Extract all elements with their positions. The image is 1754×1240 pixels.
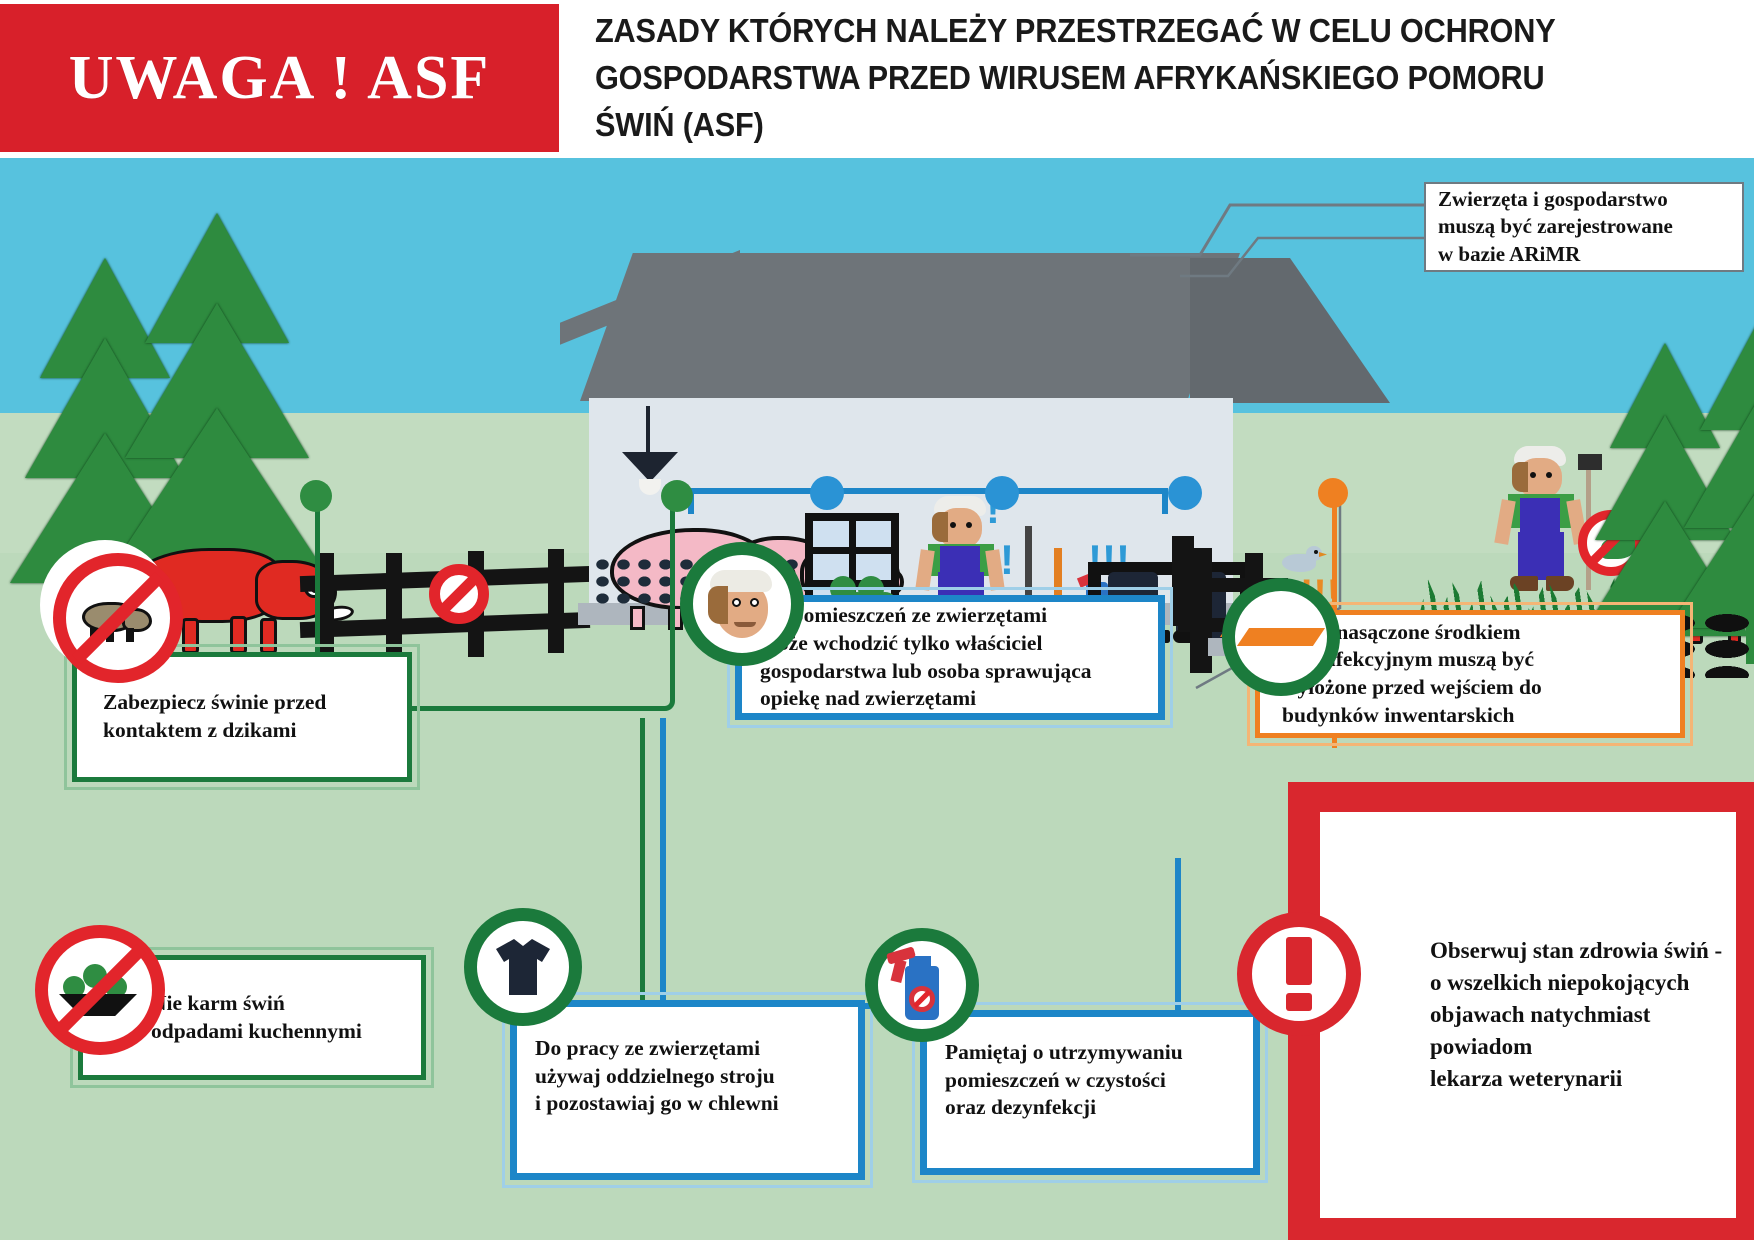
callout-access-line-1: Do pomieszczeń ze zwierzętami	[760, 602, 1092, 630]
callout-health-monitoring[interactable]: Obserwuj stan zdrowia świń - o wszelkich…	[1288, 782, 1754, 1240]
connector-node-blue-a	[810, 476, 844, 510]
callout-clothing-line-1: Do pracy ze zwierzętami	[535, 1035, 779, 1063]
title-line-3: ŚWIŃ (ASF)	[595, 102, 1665, 149]
poster-header: UWAGA ! ASF ZASADY KTÓRYCH NALEŻY PRZEST…	[0, 0, 1754, 158]
callout-health-line-4: lekarza weterynarii	[1430, 1063, 1736, 1095]
no-boar-icon[interactable]	[40, 540, 170, 670]
boar-glyph	[78, 594, 158, 642]
callout-clothing-line-3: i pozostawiaj go w chlewni	[535, 1090, 779, 1118]
callout-cleanliness[interactable]: Pamiętaj o utrzymywaniu pomieszczeń w cz…	[920, 1010, 1260, 1175]
title-line-1: ZASADY KTÓRYCH NALEŻY PRZESTRZEGAĆ W CEL…	[595, 8, 1665, 55]
callout-health-line-3: objawach natychmiast powiadom	[1430, 999, 1736, 1063]
callout-access-line-4: opiekę nad zwierzętami	[760, 685, 1092, 713]
connector-node-green-b	[661, 480, 693, 512]
connector-blue-right-down	[1175, 858, 1181, 1018]
callout-mats-line-4: budynków inwentarskich	[1282, 702, 1542, 730]
asf-poster: UWAGA ! ASF ZASADY KTÓRYCH NALEŻY PRZEST…	[0, 0, 1754, 1240]
callout-boar-line-2: kontaktem z dzikami	[103, 717, 326, 745]
connector-blue-a	[688, 488, 1168, 514]
callout-boar-line-1: Zabezpiecz świnie przed	[103, 689, 326, 717]
warning-banner: UWAGA ! ASF	[0, 4, 559, 152]
page-title: ZASADY KTÓRYCH NALEŻY PRZESTRZEGAĆ W CEL…	[595, 8, 1665, 149]
callout-waste-line-2: odpadami kuchennymi	[151, 1018, 362, 1046]
callout-clothing-line-2: używaj oddzielnego stroju	[535, 1063, 779, 1091]
connector-node-blue-c	[1168, 476, 1202, 510]
farmer-head-icon[interactable]	[680, 542, 804, 666]
connector-node-orange	[1318, 478, 1348, 508]
spray-bottle-icon[interactable]	[865, 928, 979, 1042]
callout-arimr-line-1: Zwierzęta i gospodarstwo	[1438, 186, 1673, 213]
no-food-waste-icon[interactable]	[35, 925, 165, 1055]
connector-node-blue-b	[985, 476, 1019, 510]
connector-green-vertical-left	[640, 718, 645, 1048]
callout-waste-line-1: Nie karm świń	[151, 990, 362, 1018]
tshirt-icon[interactable]	[464, 908, 582, 1026]
callout-clean-line-3: oraz dezynfekcji	[945, 1094, 1183, 1122]
mat-icon[interactable]	[1222, 578, 1340, 696]
callout-health-line-1: Obserwuj stan zdrowia świń -	[1430, 935, 1736, 967]
callout-clean-line-1: Pamiętaj o utrzymywaniu	[945, 1039, 1183, 1067]
banner-label: UWAGA ! ASF	[69, 47, 491, 109]
callout-arimr[interactable]: Zwierzęta i gospodarstwo muszą być zarej…	[1424, 182, 1744, 272]
callout-arimr-line-2: muszą być zarejestrowane	[1438, 213, 1673, 240]
connector-node-green-a	[300, 480, 332, 512]
exclamation-icon[interactable]	[1237, 912, 1361, 1036]
callout-arimr-line-3: w bazie ARiMR	[1438, 241, 1673, 268]
callout-access-line-2: może wchodzić tylko właściciel	[760, 630, 1092, 658]
callout-health-line-2: o wszelkich niepokojących	[1430, 967, 1736, 999]
callout-access-line-3: gospodarstwa lub osoba sprawująca	[760, 658, 1092, 686]
tshirt-glyph	[492, 935, 554, 999]
title-line-2: GOSPODARSTWA PRZED WIRUSEM AFRYKAŃSKIEGO…	[595, 55, 1665, 102]
connector-blue-vertical-left	[660, 718, 666, 1008]
callout-clean-line-2: pomieszczeń w czystości	[945, 1067, 1183, 1095]
callout-separate-clothing[interactable]: Do pracy ze zwierzętami używaj oddzielne…	[510, 1000, 865, 1180]
